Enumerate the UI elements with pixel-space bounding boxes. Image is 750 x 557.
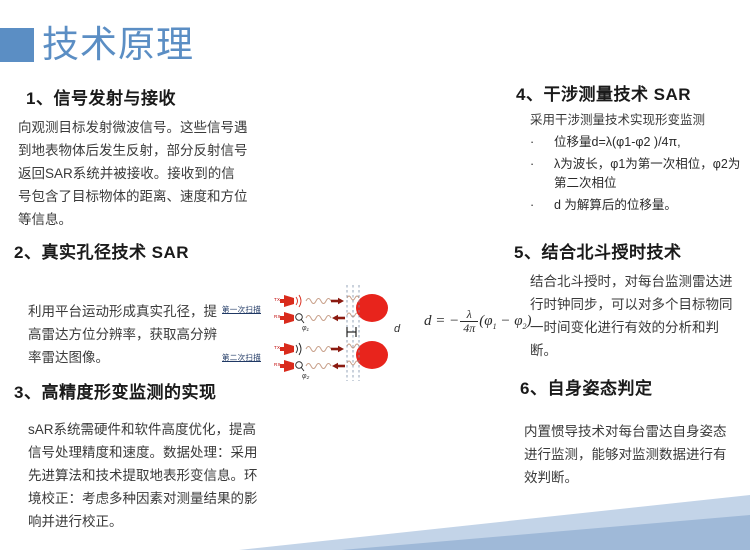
formula-fraction: λ4π [460,308,478,335]
formula-denominator: 4π [460,322,478,335]
page-title: 技术原理 [42,22,194,68]
outgoing-wave-scan2 [306,347,331,352]
list-item: · 位移量d=λ(φ1-φ2 )/4π, [516,133,748,152]
section-heading-2: 2、真实孔径技术 SAR [14,238,189,263]
section-heading-5: 5、结合北斗授时技术 [514,238,681,263]
bullet-marker-icon: · [530,196,534,215]
outgoing-wave-scan1 [306,299,331,304]
displacement-formula: d = −λ4π(φ1 − φ2) [424,308,532,335]
list-item-label: 位移量d=λ(φ1-φ2 )/4π, [554,135,681,149]
rx-antenna-icon-scan1 [280,312,304,324]
list-item: · λ为波长，φ1为第一次相位，φ2为第二次相位 [516,155,748,193]
list-item: · d 为解算后的位移量。 [516,196,748,215]
formula-lhs: d = − [424,313,459,329]
section-heading-6: 6、自身姿态判定 [520,374,652,399]
title-accent-square [0,28,34,62]
incoming-wave-scan2 [306,364,331,369]
bullet-marker-icon: · [530,133,534,152]
target-object-scan1 [356,294,388,322]
formula-phi2: φ [484,313,492,329]
formula-paren-close: ) [527,313,532,329]
tx-antenna-icon-scan1 [280,295,301,307]
sar-interferometry-diagram: 第一次扫描 第二次扫描 TX RX TX RX φ₁ φ₂ [214,283,414,383]
section-heading-4: 4、干涉测量技术 SAR [516,80,691,105]
bottom-white-strip [0,550,750,557]
section4-bullet-list: · 位移量d=λ(φ1-φ2 )/4π, · λ为波长，φ1为第一次相位，φ2为… [516,133,748,218]
section-intro-4: 采用干涉测量技术实现形变监测 [530,110,746,130]
slide-canvas: 技术原理 1、信号发射与接收 向观测目标发射微波信号。这些信号遇到地表物体后发生… [0,0,750,557]
formula-minus: − [497,313,515,329]
rx-antenna-icon-scan2 [280,360,304,372]
tx-antenna-icon-scan2 [280,343,301,355]
section-body-2: 利用平台运动形成真实孔径，提高雷达方位分辨率，获取高分辨率雷达图像。 [28,300,228,369]
formula-numerator: λ [460,308,478,322]
outgoing-arrow-scan1 [331,298,344,304]
section-body-5: 结合北斗授时，对每台监测雷达进行时钟同步，可以对多个目标物同一时间变化进行有效的… [530,270,738,362]
section-heading-3: 3、高精度形变监测的实现 [14,378,216,403]
incoming-wave-scan1 [306,316,331,321]
bullet-marker-icon: · [530,155,534,174]
outgoing-arrow-scan2 [331,346,344,352]
incoming-arrow-scan1 [332,315,345,321]
list-item-label: d 为解算后的位移量。 [554,198,677,212]
section-heading-1: 1、信号发射与接收 [26,84,176,109]
displacement-label: d [394,323,400,335]
formula-phi1: φ [514,313,522,329]
incoming-arrow-scan2 [332,363,345,369]
bottom-decoration [0,477,750,557]
displacement-marker [347,327,356,337]
section-body-1: 向观测目标发射微波信号。这些信号遇到地表物体后发生反射，部分反射信号返回SAR系… [18,116,248,231]
diagram-graphics [214,283,414,383]
list-item-label: λ为波长，φ1为第一次相位，φ2为第二次相位 [554,157,740,190]
target-object-scan2 [356,341,388,369]
